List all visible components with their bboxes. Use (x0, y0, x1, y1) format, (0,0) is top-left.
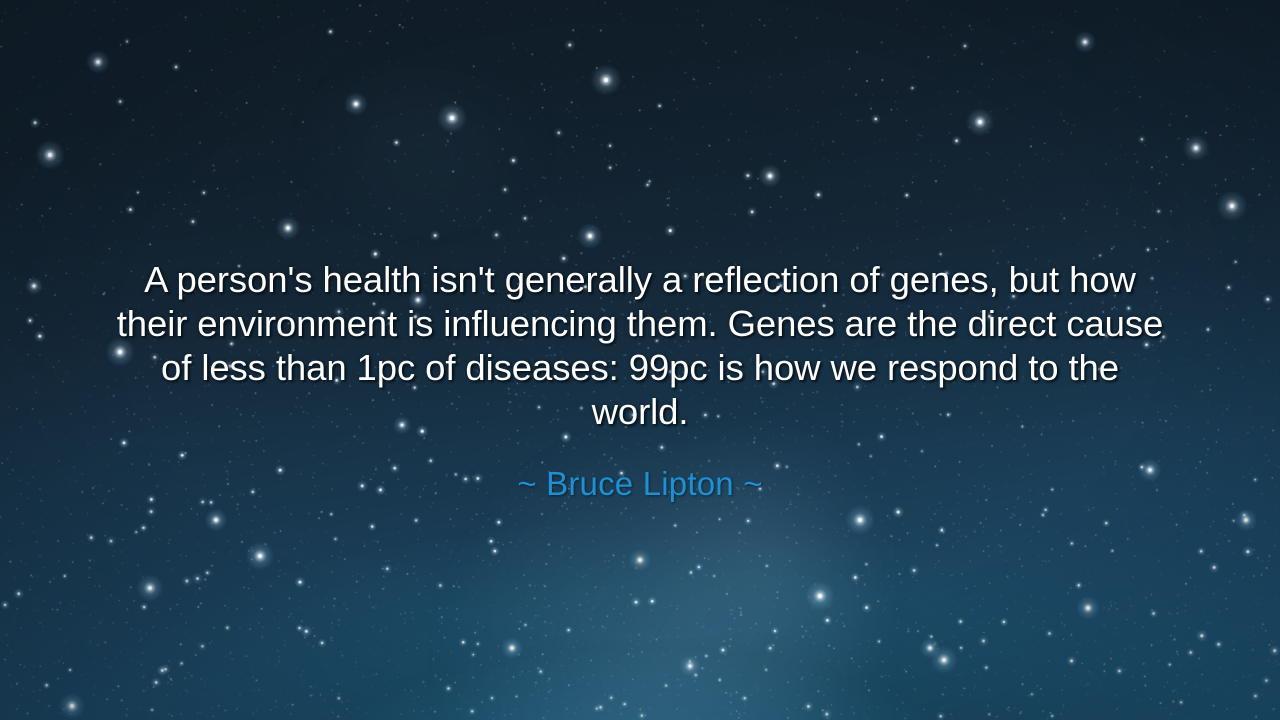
quote-text: A person's health isn't generally a refl… (108, 258, 1172, 434)
quote-attribution: ~ Bruce Lipton ~ (108, 464, 1172, 504)
quote-block: A person's health isn't generally a refl… (0, 258, 1280, 504)
quote-card: A person's health isn't generally a refl… (0, 0, 1280, 720)
